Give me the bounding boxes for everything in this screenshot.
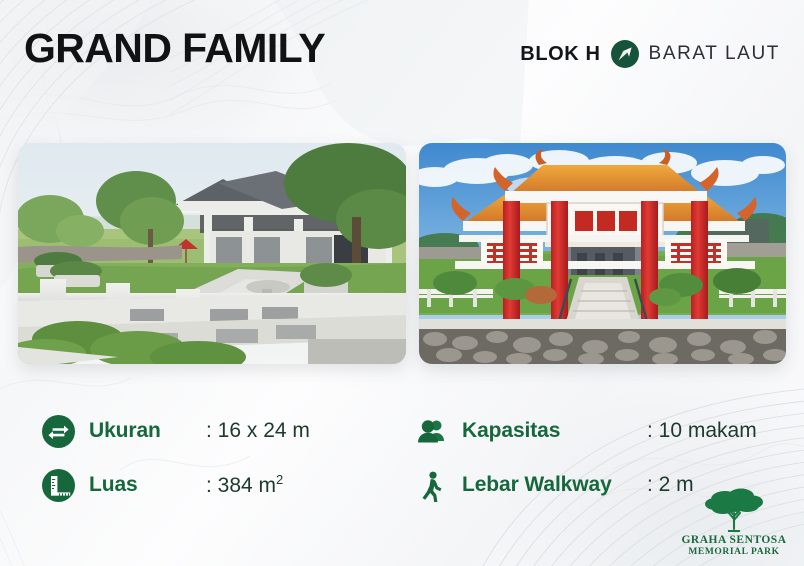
brand-name: GRAHA SENTOSA	[680, 534, 788, 547]
spec-value-ukuran: : 16 x 24 m	[206, 419, 310, 443]
compass-northwest-icon	[611, 40, 639, 68]
walking-person-icon	[415, 469, 448, 502]
arrows-horizontal-icon	[42, 415, 75, 448]
direction-label: BARAT LAUT	[649, 43, 780, 65]
spec-row-luas: Luas : 384 m2	[42, 458, 402, 512]
brand-subtitle: MEMORIAL PARK	[680, 547, 788, 558]
spec-row-kapasitas: Kapasitas : 10 makam	[415, 404, 795, 458]
spec-column-left: Ukuran : 16 x 24 m	[42, 404, 402, 512]
spec-label-kapasitas: Kapasitas	[462, 419, 560, 443]
block-label: BLOK H	[520, 43, 600, 66]
page-title: GRAND FAMILY	[24, 28, 325, 69]
spec-label-luas: Luas	[89, 473, 138, 497]
spec-row-ukuran: Ukuran : 16 x 24 m	[42, 404, 402, 458]
photo-chinese-memorial-gate	[419, 143, 786, 364]
ruler-square-icon	[42, 469, 75, 502]
tree-logo-icon	[703, 485, 765, 533]
spec-label-lebar-walkway: Lebar Walkway	[462, 473, 612, 497]
photo-memorial-pavilion	[18, 143, 406, 364]
users-icon	[415, 415, 448, 448]
spec-value-luas: : 384 m2	[206, 472, 283, 498]
spec-value-kapasitas: : 10 makam	[647, 419, 757, 443]
poster-header: GRAND FAMILY BLOK H BARAT LAUT	[0, 24, 804, 94]
block-direction-group: BLOK H BARAT LAUT	[520, 40, 780, 68]
poster-canvas: GRAND FAMILY BLOK H BARAT LAUT	[0, 0, 804, 566]
brand-logo: GRAHA SENTOSA MEMORIAL PARK	[680, 485, 788, 558]
spec-label-ukuran: Ukuran	[89, 419, 161, 443]
